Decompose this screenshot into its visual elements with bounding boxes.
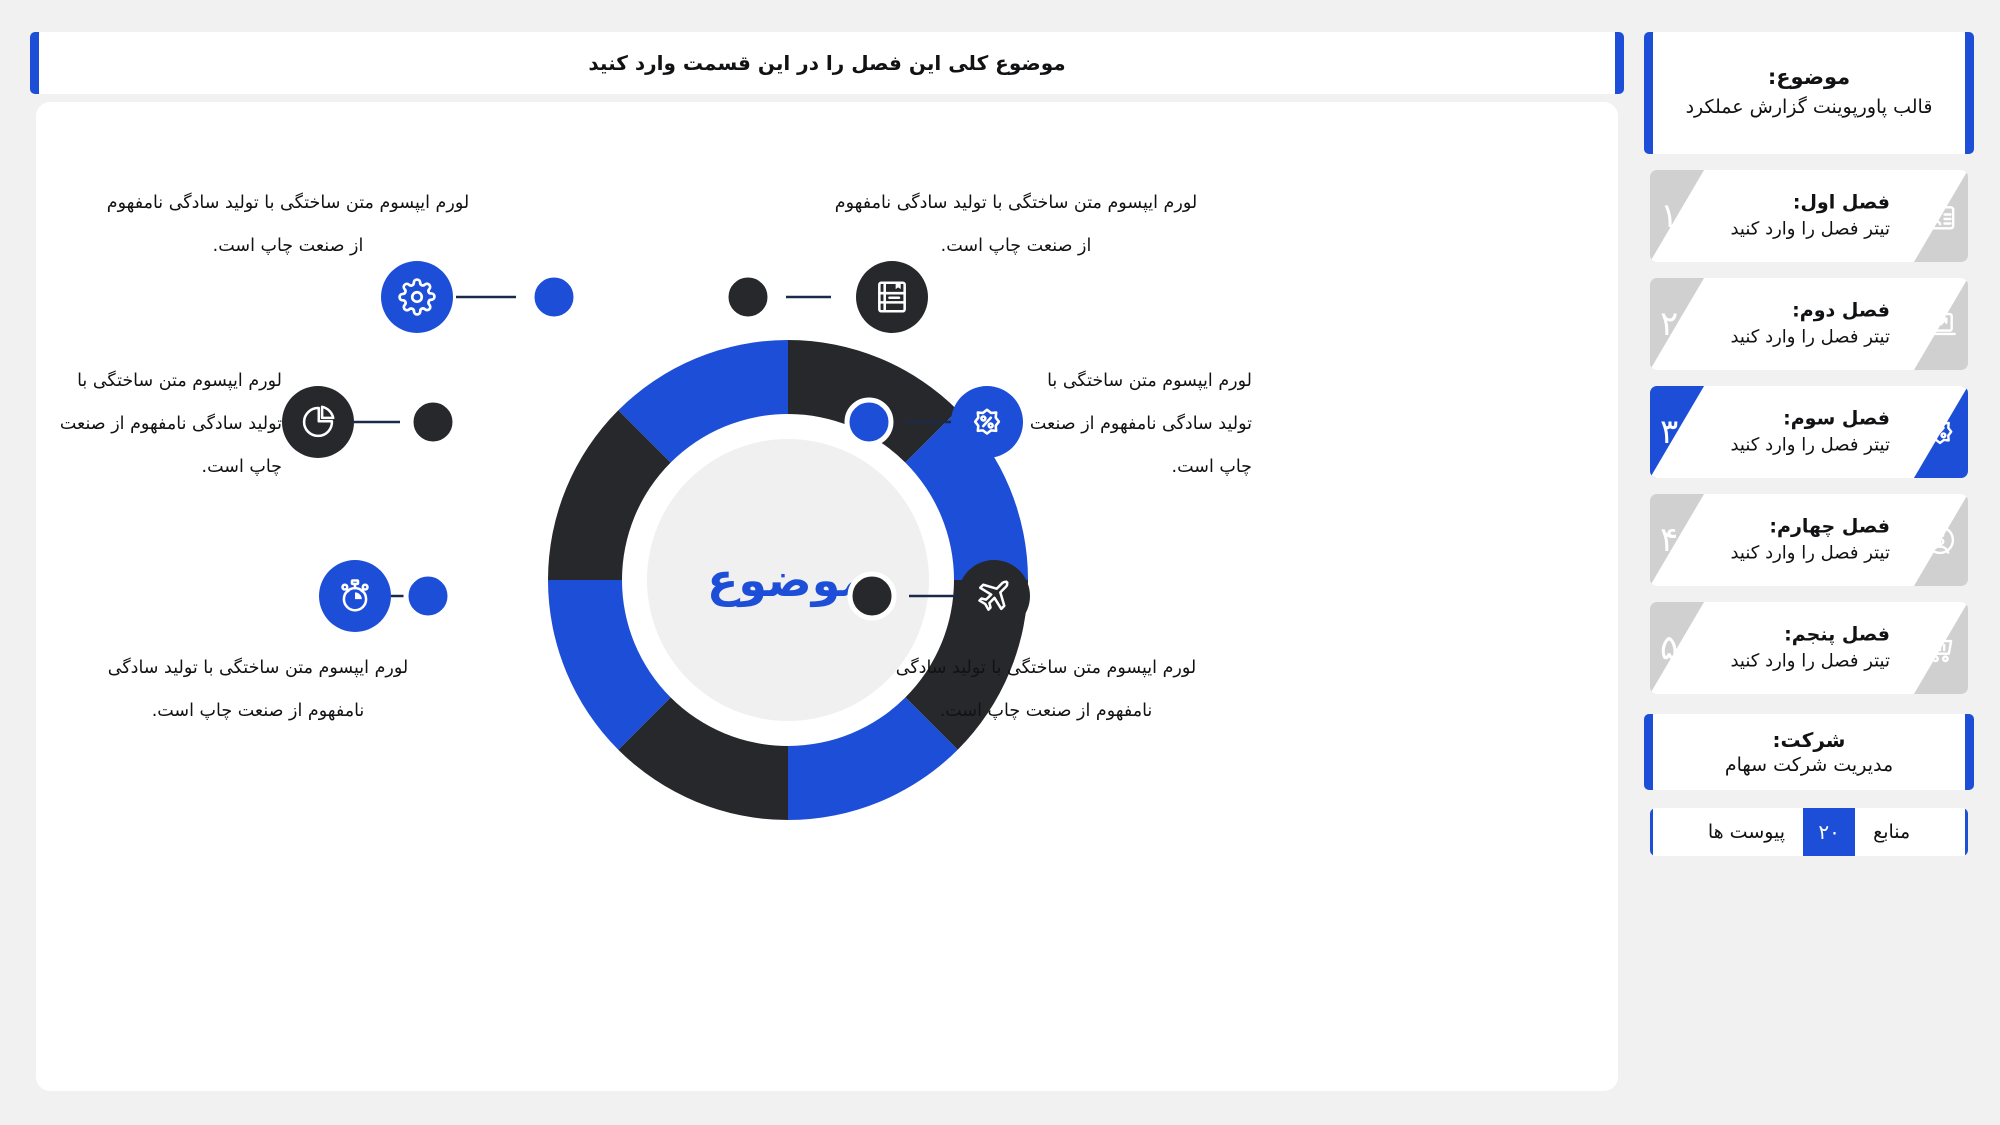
sidebar-item-chapter-5[interactable]: ۵ فصل پنجم: تیتر فصل را وارد کنید	[1650, 602, 1968, 694]
chapter-number: ۲	[1660, 307, 1678, 341]
company-value: مدیریت شرکت سهام	[1725, 754, 1893, 776]
chapter-subtitle: تیتر فصل را وارد کنید	[1730, 325, 1890, 348]
cart-icon	[1922, 630, 1958, 666]
chapter-text: فصل دوم: تیتر فصل را وارد کنید	[1730, 299, 1890, 348]
chapter-icon-slot	[1920, 196, 1960, 236]
money-person-icon	[1922, 522, 1958, 558]
chapter-title: فصل اول:	[1730, 191, 1890, 215]
chapter-title: فصل دوم:	[1730, 299, 1890, 323]
sidebar-item-chapter-2[interactable]: ۲ فصل دوم: تیتر فصل را وارد کنید	[1650, 278, 1968, 370]
sidebar: موضوع: قالب پاورپوینت گزارش عملکرد ۱ فصل…	[1650, 32, 1968, 1092]
ring-dot-5	[406, 574, 450, 618]
slide-root: موضوع کلی این فصل را در این قسمت وارد کن…	[0, 0, 2000, 1125]
sidebar-footer-bar: منابع ۲۰ پیوست ها	[1650, 808, 1968, 856]
page-title: موضوع کلی این فصل را در این قسمت وارد کن…	[588, 51, 1065, 75]
chapter-icon-slot	[1920, 628, 1960, 668]
chapter-icon-slot	[1920, 520, 1960, 560]
chapter-title: فصل پنجم:	[1730, 623, 1890, 647]
node-bubble-pie-chart[interactable]	[282, 386, 354, 458]
chapter-subtitle: تیتر فصل را وارد کنید	[1730, 433, 1890, 456]
topic-value: قالب پاورپوینت گزارش عملکرد	[1686, 94, 1933, 122]
airplane-icon	[975, 577, 1013, 615]
chapter-number: ۴	[1660, 523, 1678, 557]
blurb-mid-left: لورم ایپسوم متن ساختگی با تولید سادگی نا…	[46, 360, 282, 489]
chapter-number: ۱	[1660, 199, 1678, 233]
chapter-text: فصل چهارم: تیتر فصل را وارد کنید	[1730, 515, 1890, 564]
blurb-top-right: لورم ایپسوم متن ساختگی با تولید سادگی نا…	[826, 182, 1206, 268]
node-bubble-airplane[interactable]	[958, 560, 1030, 632]
pie-chart-icon	[299, 403, 337, 441]
sidebar-topic-panel: موضوع: قالب پاورپوینت گزارش عملکرد	[1650, 32, 1968, 154]
sources-label[interactable]: منابع	[1855, 808, 1928, 856]
percent-badge-icon	[1922, 414, 1958, 450]
slide-header: موضوع کلی این فصل را در این قسمت وارد کن…	[36, 32, 1618, 94]
attachments-label[interactable]: پیوست ها	[1690, 808, 1803, 856]
sidebar-company-panel: شرکت: مدیریت شرکت سهام	[1650, 714, 1968, 790]
chapter-subtitle: تیتر فصل را وارد کنید	[1730, 649, 1890, 672]
laptop-chart-icon	[1922, 306, 1958, 342]
chapter-text: فصل اول: تیتر فصل را وارد کنید	[1730, 191, 1890, 240]
book-icon	[873, 278, 911, 316]
blurb-bottom-right: لورم ایپسوم متن ساختگی با تولید سادگی نا…	[876, 647, 1216, 733]
gear-icon	[398, 278, 436, 316]
chapter-number: ۳	[1660, 415, 1678, 449]
node-bubble-gear[interactable]	[381, 261, 453, 333]
page-number-badge: ۲۰	[1803, 808, 1855, 856]
topic-label: موضوع:	[1768, 65, 1850, 89]
node-bubble-book[interactable]	[856, 261, 928, 333]
main-canvas: موضوع	[36, 102, 1618, 1091]
chapter-text: فصل پنجم: تیتر فصل را وارد کنید	[1730, 623, 1890, 672]
sidebar-item-chapter-4[interactable]: ۴ فصل چهارم: تیتر فصل را وارد کنید	[1650, 494, 1968, 586]
node-bubble-stopwatch[interactable]	[319, 560, 391, 632]
chapter-number: ۵	[1660, 631, 1678, 665]
company-label: شرکت:	[1773, 728, 1846, 752]
blurb-bottom-left: لورم ایپسوم متن ساختگی با تولید سادگی نا…	[88, 647, 428, 733]
ring-dot-6	[411, 400, 455, 444]
node-bubble-percent[interactable]	[951, 386, 1023, 458]
percent-badge-icon	[968, 403, 1006, 441]
chapter-text: فصل سوم: تیتر فصل را وارد کنید	[1730, 407, 1890, 456]
chapter-icon-slot	[1920, 304, 1960, 344]
chapter-title: فصل چهارم:	[1730, 515, 1890, 539]
chapter-subtitle: تیتر فصل را وارد کنید	[1730, 217, 1890, 240]
id-card-icon	[1922, 198, 1958, 234]
chapter-icon-slot	[1920, 412, 1960, 452]
sidebar-item-chapter-1[interactable]: ۱ فصل اول: تیتر فصل را وارد کنید	[1650, 170, 1968, 262]
blurb-mid-right: لورم ایپسوم متن ساختگی با تولید سادگی نا…	[1016, 360, 1252, 489]
blurb-top-left: لورم ایپسوم متن ساختگی با تولید سادگی نا…	[98, 182, 478, 268]
sidebar-item-chapter-3[interactable]: ۳ فصل سوم: تیتر فصل را وارد کنید	[1650, 386, 1968, 478]
chapter-title: فصل سوم:	[1730, 407, 1890, 431]
stopwatch-icon	[336, 577, 374, 615]
chapter-subtitle: تیتر فصل را وارد کنید	[1730, 541, 1890, 564]
